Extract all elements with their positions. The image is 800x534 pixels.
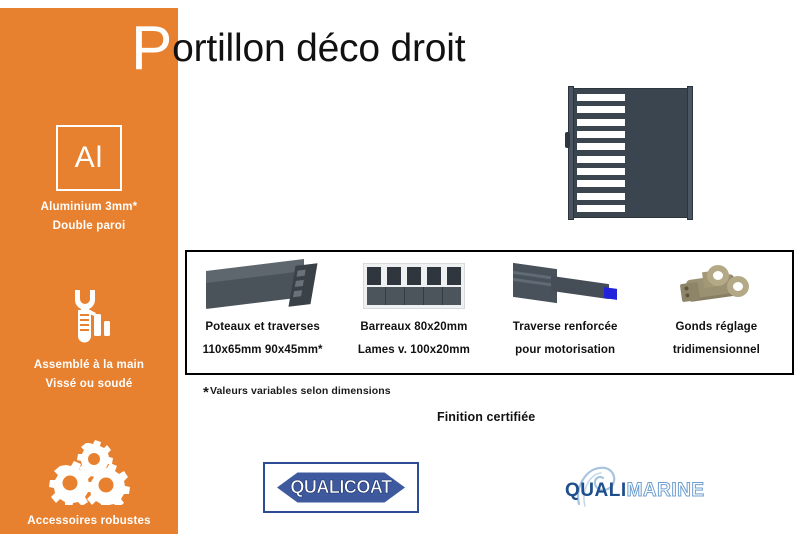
qualimarine-text-secondary: MARINE <box>627 480 705 501</box>
product-spec-box: Poteaux et traverses 110x65mm 90x45mm* <box>185 250 794 375</box>
sidebar-feature-assembly-line1: Assemblé à la main <box>0 356 178 375</box>
product-traverse-line2: pour motorisation <box>515 341 615 360</box>
hinge-adjust-plate <box>680 282 700 302</box>
qualimarine-text-primary: QUALI <box>565 480 627 501</box>
gate-slat <box>577 180 625 187</box>
product-poteaux-line2: 110x65mm 90x45mm* <box>203 341 323 360</box>
gate-slat <box>577 205 625 212</box>
bar-sample <box>367 267 381 285</box>
gate-slat <box>577 94 625 101</box>
bar-sample <box>427 267 441 285</box>
product-gonds-line2: tridimensionnel <box>673 341 760 360</box>
gate-post-right <box>687 86 693 220</box>
feature-sidebar: Al Aluminium 3mm* Double paroi <box>0 8 178 534</box>
sidebar-feature-aluminium: Al Aluminium 3mm* Double paroi <box>0 118 178 236</box>
crossbar-blue-tip <box>604 287 617 300</box>
bars-and-slats-drawing <box>363 263 465 309</box>
post-and-rail-drawing <box>204 263 322 309</box>
hinge-lobe <box>727 276 749 297</box>
slat-sample <box>405 287 424 305</box>
page-title: Portillon déco droit <box>131 22 465 71</box>
bars-row <box>367 267 461 285</box>
product-gonds: Gonds réglage tridimensionnel <box>641 252 792 373</box>
product-gonds-line1: Gonds réglage <box>675 318 757 337</box>
gate-slat <box>577 156 625 163</box>
qualimarine-logo: QUALIMARINE <box>561 466 721 510</box>
gate-slat <box>577 168 625 175</box>
slats-row <box>367 287 461 305</box>
gate-slats <box>577 94 625 212</box>
product-traverse-line1: Traverse renforcée <box>513 318 618 337</box>
bar-sample <box>387 267 401 285</box>
gate-slat <box>577 119 625 126</box>
gate-slat <box>577 106 625 113</box>
slat-sample <box>386 287 405 305</box>
footnote-star: * <box>203 384 209 401</box>
gate-slat <box>577 193 625 200</box>
page-title-initial: P <box>131 14 172 83</box>
certification-heading: Finition certifiée <box>437 410 535 424</box>
bars-and-slats-icon <box>338 258 489 314</box>
sidebar-feature-accessories: Accessoires robustes <box>0 432 178 531</box>
qualimarine-logo-text: QUALIMARINE <box>565 480 705 502</box>
footnote: *Valeurs variables selon dimensions <box>203 381 391 398</box>
sidebar-feature-assembly: Assemblé à la main Vissé ou soudé <box>0 276 178 394</box>
aluminium-badge-icon: Al <box>0 118 178 198</box>
gate-slat <box>577 143 625 150</box>
footnote-text: Valeurs variables selon dimensions <box>210 385 391 397</box>
qualicoat-logo-text: QUALICOAT <box>290 477 391 498</box>
hinge-drawing <box>677 263 755 309</box>
hinge-icon <box>641 258 792 314</box>
gate-handle-icon <box>565 132 570 148</box>
product-traverse-renforcee: Traverse renforcée pour motorisation <box>490 252 641 373</box>
sidebar-feature-aluminium-line2: Double paroi <box>0 217 178 236</box>
sidebar-feature-aluminium-line1: Aluminium 3mm* <box>0 198 178 217</box>
product-barreaux-lames: Barreaux 80x20mm Lames v. 100x20mm <box>338 252 489 373</box>
gate-post-left <box>568 86 574 220</box>
qualicoat-logo: QUALICOAT <box>263 462 419 513</box>
gears-icon <box>0 432 178 512</box>
page-title-rest: ortillon déco droit <box>172 27 465 70</box>
gate-slat <box>577 131 625 138</box>
product-barreaux-line2: Lames v. 100x20mm <box>358 341 470 360</box>
wrench-hand-icon <box>0 276 178 356</box>
reinforced-crossbar-icon <box>490 258 641 314</box>
bar-sample <box>447 267 461 285</box>
post-and-rail-icon <box>187 258 338 314</box>
sidebar-feature-accessories-line1: Accessoires robustes <box>0 512 178 531</box>
gate-product-photo <box>569 88 692 218</box>
reinforced-crossbar-drawing <box>507 262 623 310</box>
qualicoat-logo-inner: QUALICOAT <box>271 470 411 506</box>
slat-sample <box>367 287 386 305</box>
product-barreaux-line1: Barreaux 80x20mm <box>360 318 467 337</box>
crossbar-arm <box>551 276 609 299</box>
bar-sample <box>407 267 421 285</box>
aluminium-badge-label: Al <box>56 125 122 191</box>
sidebar-feature-assembly-line2: Vissé ou soudé <box>0 375 178 394</box>
slat-sample <box>424 287 443 305</box>
product-poteaux-traverses: Poteaux et traverses 110x65mm 90x45mm* <box>187 252 338 373</box>
product-poteaux-line1: Poteaux et traverses <box>205 318 320 337</box>
slat-sample <box>443 287 461 305</box>
